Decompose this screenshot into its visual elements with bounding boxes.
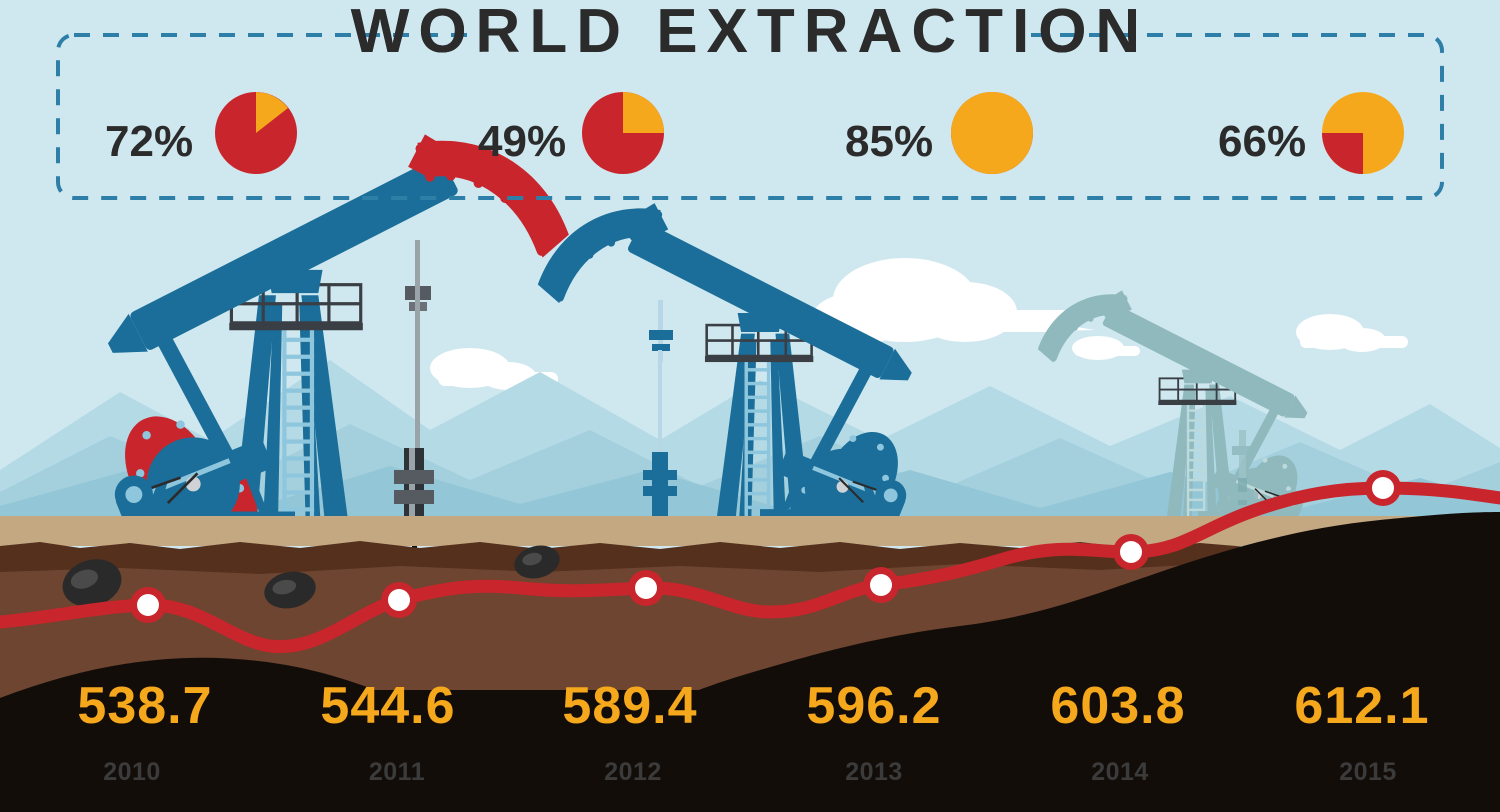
stat-percent-label-3: 85% [845, 117, 933, 166]
value-strip-background [40, 690, 1460, 750]
axis-label-2014: 2014 [1091, 758, 1149, 786]
page-title-overlay: WORLD EXTRACTION [351, 0, 1149, 66]
value-label-2011: 544.6 [320, 677, 455, 735]
stat-percent-label-1: 72% [105, 117, 193, 166]
data-point-2011[interactable] [381, 582, 417, 618]
pie-chart-3 [951, 92, 1033, 174]
axis-label-2012: 2012 [604, 758, 662, 786]
data-point-2010[interactable] [130, 587, 166, 623]
stat-percent-label-2: 49% [478, 117, 566, 166]
axis-label-2011: 2011 [369, 758, 425, 786]
value-label-2013: 596.2 [806, 677, 941, 735]
pie-chart-2 [582, 92, 664, 174]
value-label-2012: 589.4 [562, 677, 697, 735]
axis-label-2013: 2013 [845, 758, 903, 786]
value-label-2014: 603.8 [1050, 677, 1185, 735]
infographic-root: 538.7 544.6 589.4 596.2 603.8 612.1 2010… [0, 0, 1500, 812]
pie-chart-4 [1322, 92, 1404, 174]
data-point-2014[interactable] [1113, 534, 1149, 570]
data-point-2012[interactable] [628, 570, 664, 606]
value-label-2010: 538.7 [77, 677, 212, 735]
data-point-2015[interactable] [1365, 470, 1401, 506]
pie-chart-1 [215, 92, 297, 174]
value-label-2015: 612.1 [1294, 677, 1429, 735]
axis-label-2010: 2010 [103, 758, 161, 786]
stat-percent-label-4: 66% [1218, 117, 1306, 166]
world-extraction-infographic: 538.7 544.6 589.4 596.2 603.8 612.1 2010… [0, 0, 1500, 812]
axis-label-2015: 2015 [1339, 758, 1397, 786]
data-point-2013[interactable] [863, 567, 899, 603]
